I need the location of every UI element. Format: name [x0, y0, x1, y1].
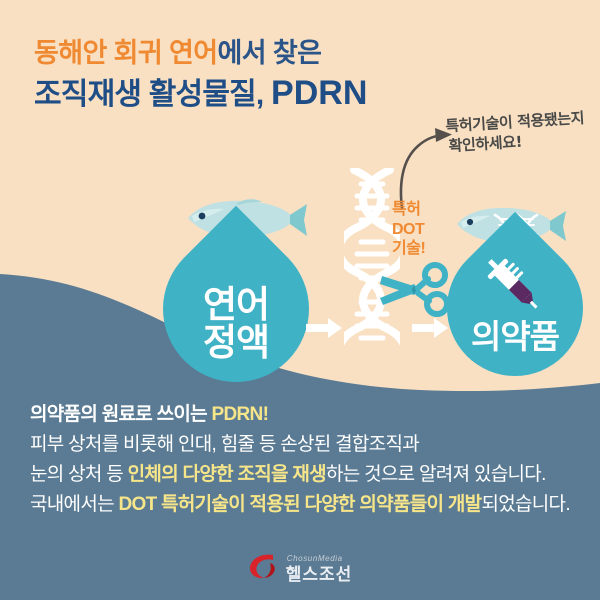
body-line-1: 의약품의 원료로 쓰이는 PDRN!	[30, 400, 590, 430]
dot-patent-label: 특허 DOT 기술!	[392, 200, 425, 259]
logo-text: ChosunMedia 헬스조선	[286, 555, 353, 583]
body-line-3-a: 눈의 상처 등	[30, 464, 128, 485]
title-line-2: 조직재생 활성물질, PDRN	[34, 74, 454, 112]
page-title: 동해안 회귀 연어에서 찾은 조직재생 활성물질, PDRN	[34, 38, 454, 112]
dot-label-line-1: 특허	[392, 200, 425, 220]
body-line-4-b: 되었습니다.	[481, 494, 569, 515]
logo-main-text: 헬스조선	[286, 566, 353, 583]
dot-label-line-2: DOT	[392, 220, 425, 240]
body-line-4: 국내에서는 DOT 특허기술이 적용된 다양한 의약품들이 개발되었습니다.	[30, 490, 590, 520]
body-line-1-plain: 의약품의 원료로 쓰이는	[30, 404, 212, 425]
body-line-3-b: 하는 것으로 알려져 있습니다.	[326, 464, 546, 485]
droplet-right-label: 의약품	[447, 320, 583, 354]
dot-label-line-3: 기술!	[392, 239, 425, 259]
title-line-2-main: 조직재생 활성물질,	[34, 78, 263, 111]
infographic-poster: 동해안 회귀 연어에서 찾은 조직재생 활성물질, PDRN 특허기술이 적용됐…	[0, 0, 600, 600]
body-line-4-a: 국내에서는	[30, 494, 118, 515]
handwritten-note: 특허기술이 적용됐는지 확인하세요!	[445, 108, 586, 157]
title-pdrn: PDRN	[271, 74, 367, 112]
body-line-3-highlight: 인체의 다양한 조직을 재생	[128, 464, 326, 485]
logo-top-text: ChosunMedia	[287, 555, 353, 563]
arrow-right-icon-2	[412, 316, 448, 345]
chosun-crescent-icon	[248, 552, 278, 585]
body-line-4-highlight: DOT 특허기술이 적용된 다양한 의약품들이 개발	[118, 494, 481, 515]
droplet-left-label-line-2: 정액	[163, 324, 309, 362]
body-line-1-highlight: PDRN!	[212, 404, 269, 425]
droplet-left-label: 연어 정액	[163, 286, 309, 361]
body-line-3: 눈의 상처 등 인체의 다양한 조직을 재생하는 것으로 알려져 있습니다.	[30, 460, 590, 490]
droplet-left-label-line-1: 연어	[163, 286, 309, 324]
body-copy: 의약품의 원료로 쓰이는 PDRN! 피부 상처를 비롯해 인대, 힘줄 등 손…	[30, 400, 590, 520]
syringe-icon	[487, 258, 545, 321]
arrow-right-icon	[306, 316, 342, 345]
body-line-2: 피부 상처를 비롯해 인대, 힘줄 등 손상된 결합조직과	[30, 430, 590, 460]
title-highlight: 동해안 회귀 연어	[34, 38, 217, 68]
title-line-1: 동해안 회귀 연어에서 찾은	[34, 38, 454, 68]
title-line-1-rest: 에서 찾은	[217, 38, 321, 68]
logo: ChosunMedia 헬스조선	[0, 552, 600, 585]
scissors-icon	[380, 262, 452, 323]
